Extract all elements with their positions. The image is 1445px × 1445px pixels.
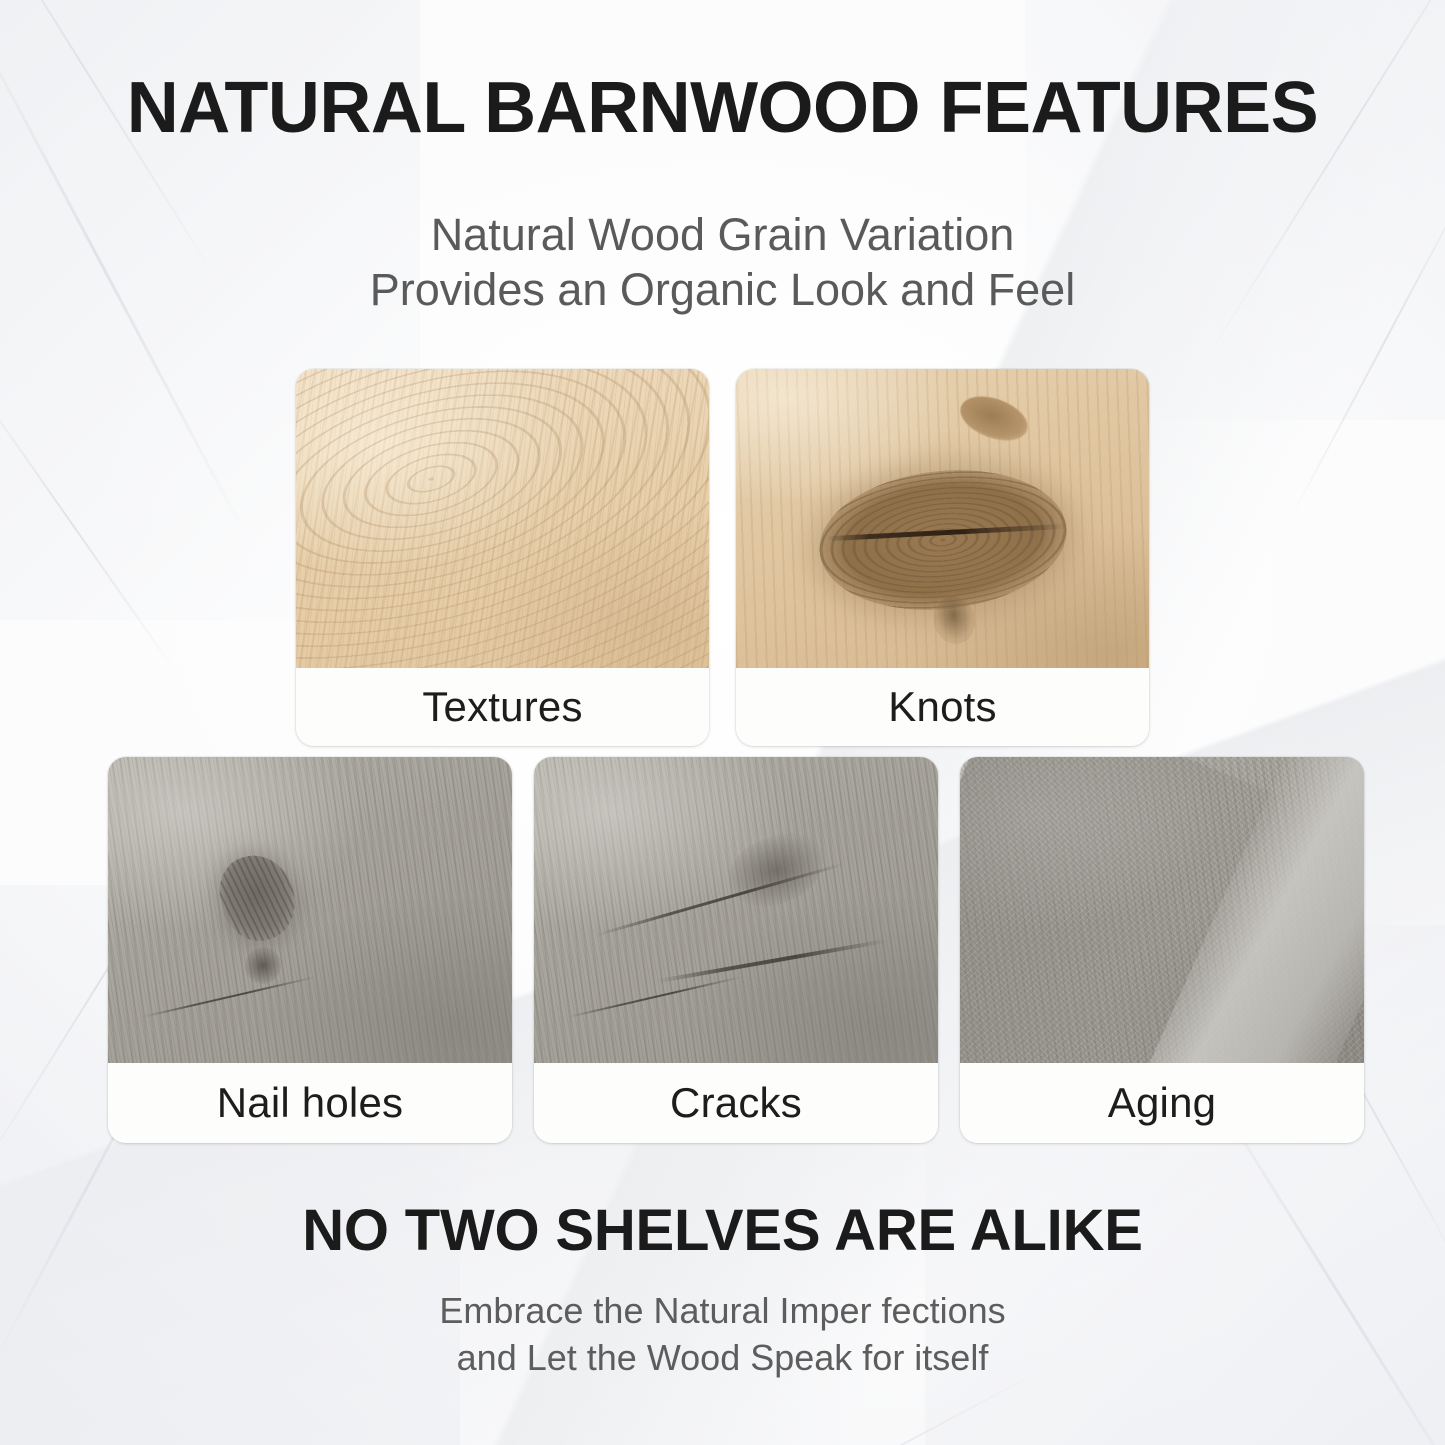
nail-holes-thumbnail [108, 757, 512, 1063]
feature-card-nail-holes[interactable]: Nail holes [108, 757, 512, 1143]
weathered-wood-texture-art [534, 757, 938, 1063]
feature-card-row-top: Textures Knots [296, 369, 1149, 746]
page-subtitle-line-2: Provides an Organic Look and Feel [0, 263, 1445, 318]
feature-card-row-bottom: Nail holes Cracks Aging [108, 757, 1364, 1143]
page-subtitle-line-1: Natural Wood Grain Variation [0, 208, 1445, 263]
page-subtitle: Natural Wood Grain Variation Provides an… [0, 208, 1445, 318]
feature-card-label: Aging [960, 1063, 1364, 1143]
knot-shading-overlay [736, 369, 1149, 668]
feature-card-label: Cracks [534, 1063, 938, 1143]
wood-crack-shape [568, 976, 742, 1018]
nail-hole-secondary-shape [242, 944, 284, 986]
wood-crack-shape [657, 939, 888, 984]
cracks-thumbnail [534, 757, 938, 1063]
feature-card-label: Textures [296, 668, 709, 746]
feature-card-cracks[interactable]: Cracks [534, 757, 938, 1143]
wood-knot-texture-art [736, 369, 1149, 668]
page-title: NATURAL BARNWOOD FEATURES [0, 72, 1445, 144]
feature-card-knots[interactable]: Knots [736, 369, 1149, 746]
footer-subtext-line-1: Embrace the Natural Imper fections [0, 1288, 1445, 1335]
feature-card-label: Knots [736, 668, 1149, 746]
wood-grain-texture-art [296, 369, 709, 668]
wood-crack-shape [595, 862, 844, 936]
weathered-wood-texture-art [108, 757, 512, 1063]
feature-card-label: Nail holes [108, 1063, 512, 1143]
footer-subtext: Embrace the Natural Imper fections and L… [0, 1288, 1445, 1382]
poster-canvas: NATURAL BARNWOOD FEATURES Natural Wood G… [0, 0, 1445, 1445]
wood-crack-shape [142, 976, 316, 1018]
aged-wood-texture-art [960, 757, 1364, 1063]
footer-heading: NO TWO SHELVES ARE ALIKE [0, 1197, 1445, 1264]
nail-hole-shape [212, 847, 303, 948]
feature-card-textures[interactable]: Textures [296, 369, 709, 746]
knots-thumbnail [736, 369, 1149, 668]
textures-thumbnail [296, 369, 709, 668]
footer-subtext-line-2: and Let the Wood Speak for itself [0, 1335, 1445, 1382]
aging-thumbnail [960, 757, 1364, 1063]
feature-card-aging[interactable]: Aging [960, 757, 1364, 1143]
